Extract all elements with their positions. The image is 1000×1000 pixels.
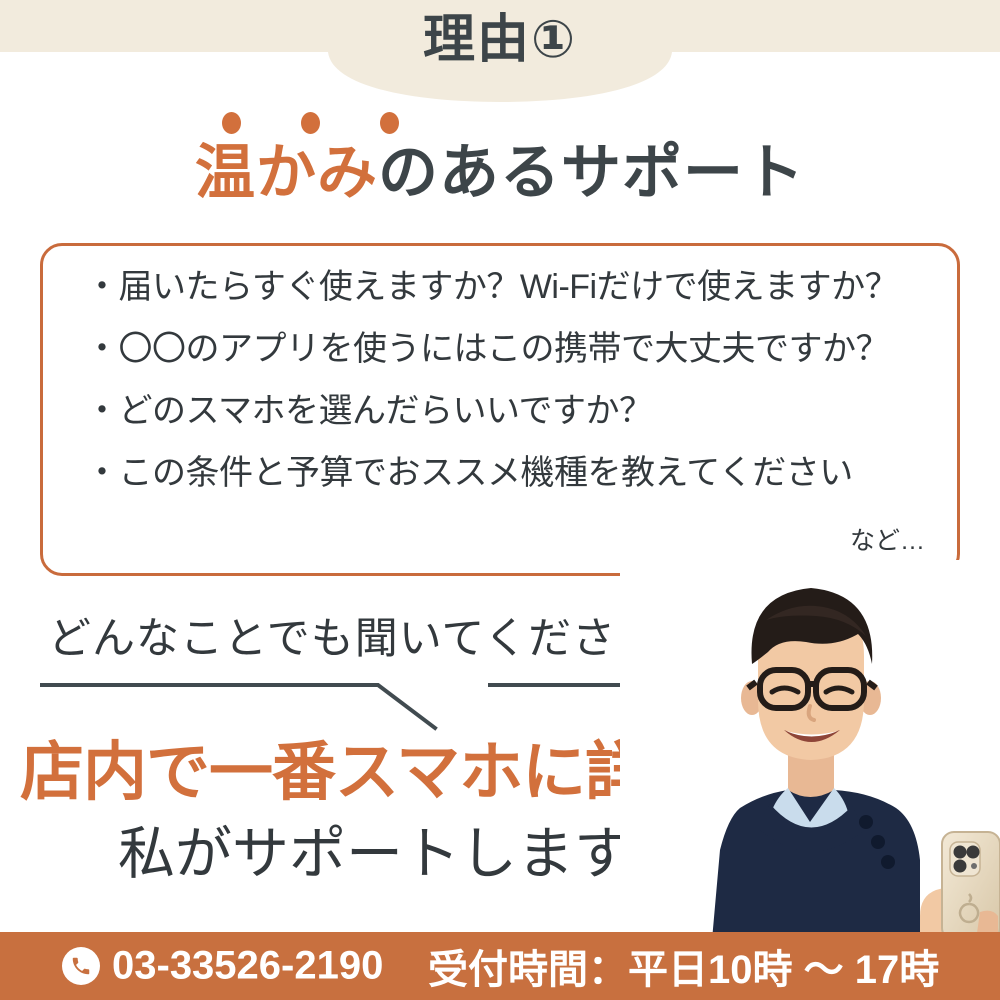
call-to-action-text: どんなことでも聞いてください！: [48, 604, 704, 666]
emphasis-dot: [301, 112, 320, 134]
staff-photo: [620, 560, 1000, 940]
headline-secondary: 私がサポートします！: [118, 826, 688, 883]
question-list: ・届いたらすぐ使えますか？Wi-Fiだけで使えますか？ ・〇〇のアプリを使うには…: [85, 270, 925, 490]
phone-number[interactable]: 03-33526-2190: [112, 944, 383, 989]
section-title-rest: のあるサポート: [378, 139, 805, 206]
business-hours: 受付時間：平日10時 ～ 17時: [428, 937, 939, 995]
question-box: ・届いたらすぐ使えますか？Wi-Fiだけで使えますか？ ・〇〇のアプリを使うには…: [40, 243, 960, 576]
section-title: 温かみのあるサポート: [0, 140, 1000, 206]
speech-bubble-rule: [40, 665, 680, 735]
contact-footer: 03-33526-2190 受付時間：平日10時 ～ 17時: [0, 932, 1000, 1000]
list-item: ・届いたらすぐ使えますか？Wi-Fiだけで使えますか？: [85, 270, 925, 304]
list-item: ・この条件と予算でおススメ機種を教えてください: [85, 456, 925, 490]
list-item: ・〇〇のアプリを使うにはこの携帯で大丈夫ですか？: [85, 332, 925, 366]
phone-icon: [62, 947, 100, 985]
emphasis-dot: [380, 112, 399, 134]
section-title-highlight: 温かみ: [195, 139, 378, 206]
emphasis-dots: [222, 112, 462, 136]
question-box-footnote: など…: [850, 521, 925, 557]
page-title: 理由①: [0, 14, 1000, 66]
emphasis-dot: [222, 112, 241, 134]
list-item: ・どのスマホを選んだらいいですか？: [85, 394, 925, 428]
